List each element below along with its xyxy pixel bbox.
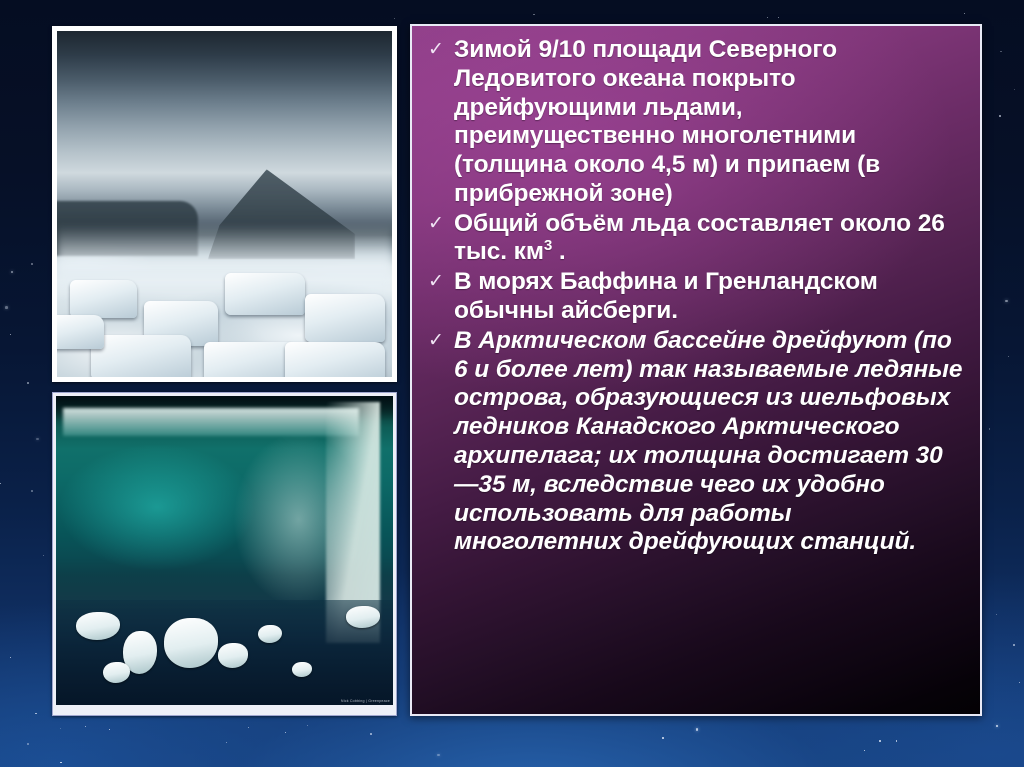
star — [767, 17, 768, 18]
ice-chunk — [57, 315, 104, 350]
star — [989, 428, 991, 430]
star — [1014, 89, 1015, 90]
star — [35, 713, 37, 715]
star — [10, 334, 11, 335]
star — [996, 725, 999, 728]
star — [437, 754, 440, 757]
superscript-exponent: 3 — [544, 237, 552, 254]
star — [10, 657, 11, 658]
star — [226, 742, 227, 743]
star — [109, 729, 110, 730]
star — [36, 438, 39, 441]
bullet-list: ✓Зимой 9/10 площади Северного Ледовитого… — [428, 36, 966, 557]
star — [864, 750, 865, 751]
photo-credit: Nick Cobbing | Greenpeace — [341, 699, 390, 703]
star — [248, 727, 249, 728]
star — [896, 740, 898, 742]
bullet-ice-islands: ✓В Арктическом бассейне дрейфуют (по 6 и… — [428, 327, 966, 557]
storm-clouds-over-pack-ice-photo — [52, 26, 397, 382]
bullet-label: Общий объём льда составляет около 26 тыс… — [454, 210, 966, 268]
star — [0, 483, 1, 484]
bullet-sea-ice-coverage: ✓Зимой 9/10 площади Северного Ледовитого… — [428, 36, 966, 209]
iceberg-top-edge — [63, 408, 360, 436]
star — [1005, 300, 1008, 303]
star — [964, 13, 965, 14]
photo-iceberg-inner: Nick Cobbing | Greenpeace — [56, 396, 393, 705]
slide-canvas: Nick Cobbing | Greenpeace ✓Зимой 9/10 пл… — [0, 0, 1024, 767]
ice-floe — [346, 606, 380, 628]
star — [307, 725, 308, 726]
star — [27, 382, 29, 384]
check-icon: ✓ — [428, 327, 454, 355]
star — [60, 762, 62, 764]
bullet-text-panel: ✓Зимой 9/10 площади Северного Ледовитого… — [410, 24, 982, 716]
star — [11, 271, 14, 274]
star — [533, 14, 535, 16]
star — [370, 733, 372, 735]
bullet-label: В морях Баффина и Гренландском обычны ай… — [454, 268, 966, 326]
bullet-label: Зимой 9/10 площади Северного Ледовитого … — [454, 36, 966, 209]
check-icon: ✓ — [428, 210, 454, 238]
star — [394, 18, 395, 19]
star — [43, 555, 44, 556]
ice-chunk — [225, 273, 305, 315]
star — [60, 728, 61, 729]
star — [662, 737, 664, 739]
star — [996, 614, 997, 615]
star — [1000, 51, 1002, 53]
star — [85, 726, 86, 727]
star — [1008, 356, 1009, 357]
star — [27, 743, 29, 745]
star — [879, 740, 881, 742]
check-icon: ✓ — [428, 268, 454, 296]
ice-chunk — [285, 342, 386, 377]
photo-pack-ice-inner — [57, 31, 392, 377]
bullet-icebergs: ✓В морях Баффина и Гренландском обычны а… — [428, 268, 966, 326]
teal-iceberg-photo: Nick Cobbing | Greenpeace — [52, 392, 397, 716]
photo-caption-strip — [53, 715, 396, 716]
star — [696, 728, 699, 731]
star — [285, 732, 287, 734]
star — [1013, 644, 1015, 646]
check-icon: ✓ — [428, 36, 454, 64]
star — [31, 263, 33, 265]
ice-chunk — [305, 294, 385, 342]
star — [31, 490, 33, 492]
star — [5, 306, 8, 309]
bullet-label: В Арктическом бассейне дрейфуют (по 6 и … — [454, 327, 966, 557]
bullet-ice-volume: ✓Общий объём льда составляет около 26 ты… — [428, 210, 966, 268]
star — [999, 115, 1001, 117]
star — [778, 17, 779, 18]
ice-chunk — [91, 335, 192, 377]
star — [1019, 682, 1020, 683]
ice-chunk — [70, 280, 137, 318]
